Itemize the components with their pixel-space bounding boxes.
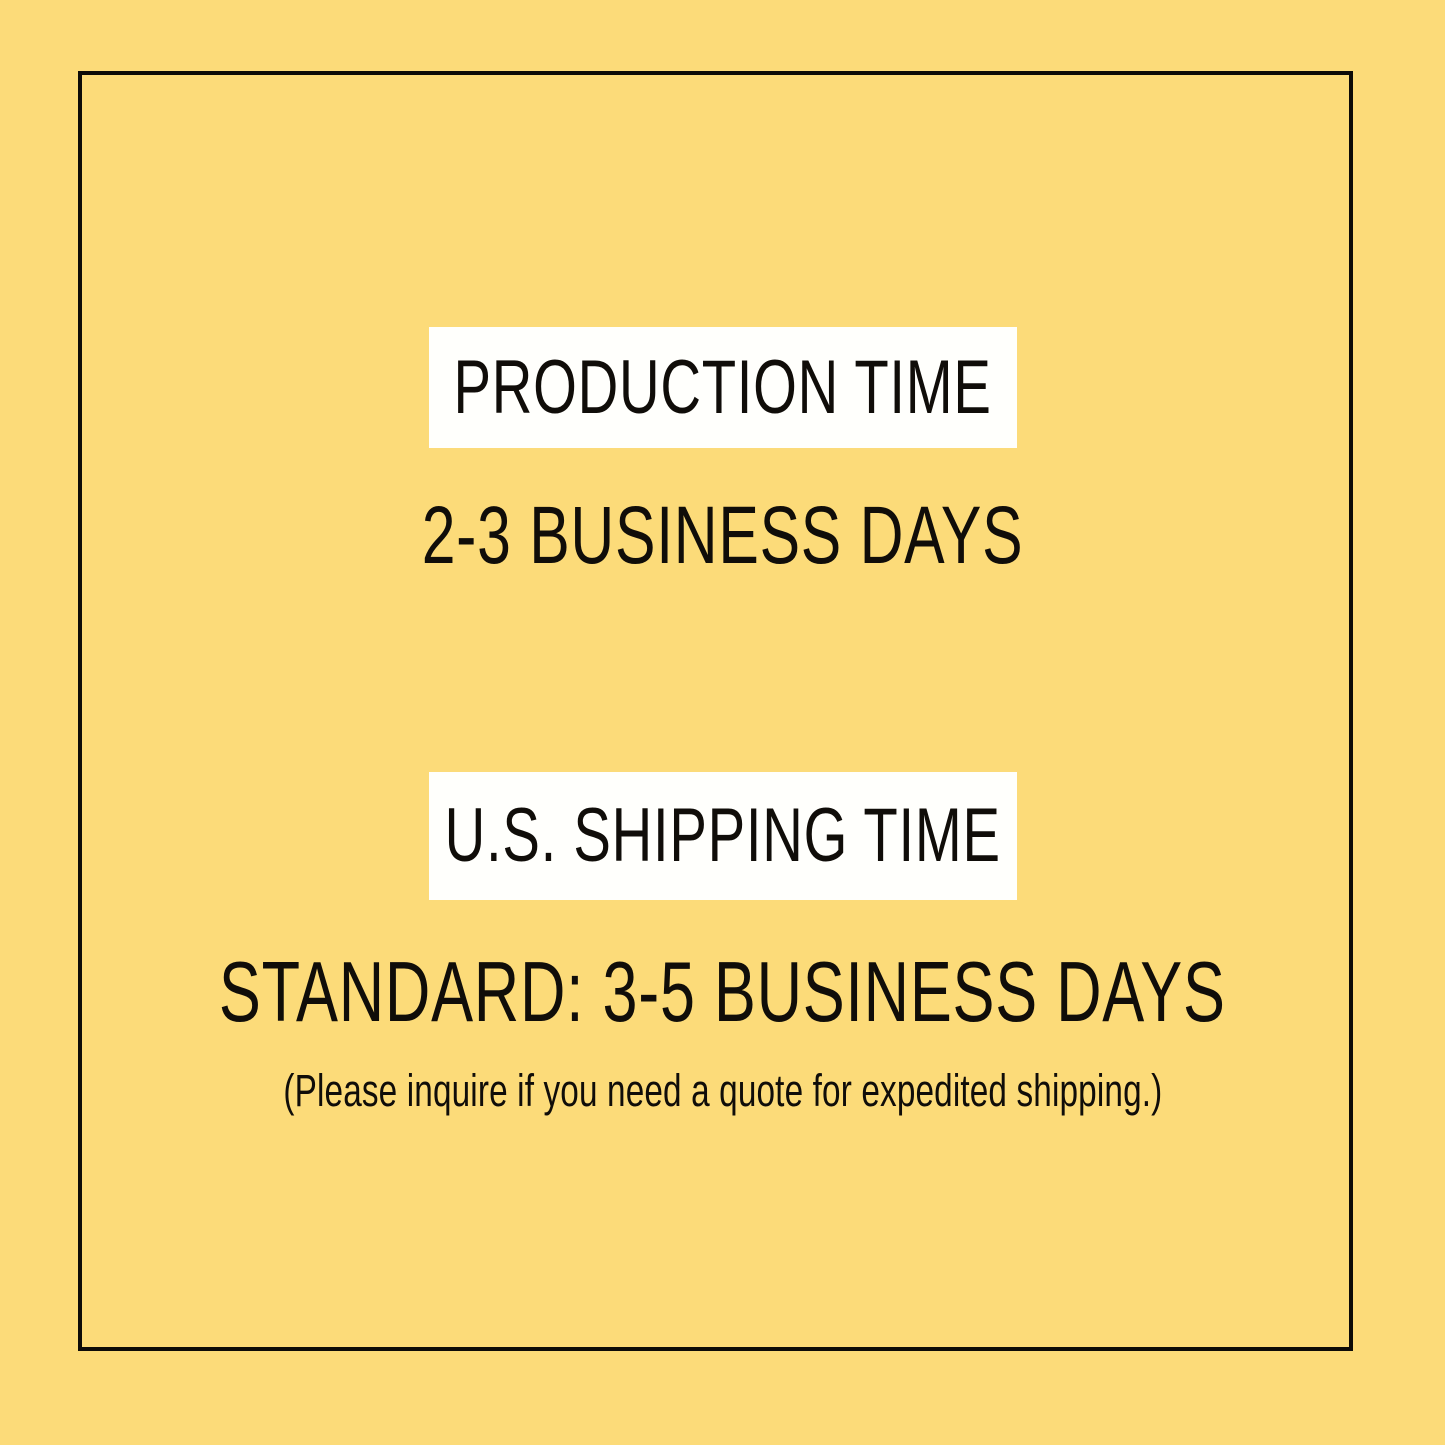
- production-time-value-label: 2-3 BUSINESS DAYS: [422, 495, 1024, 577]
- shipping-time-value-row: STANDARD: 3-5 BUSINESS DAYS: [0, 950, 1445, 1035]
- notice-canvas: PRODUCTION TIME 2-3 BUSINESS DAYS U.S. S…: [0, 0, 1445, 1445]
- production-time-heading-banner: PRODUCTION TIME: [429, 327, 1017, 448]
- production-time-heading-label: PRODUCTION TIME: [454, 350, 992, 426]
- shipping-time-heading-banner: U.S. SHIPPING TIME: [429, 772, 1017, 900]
- shipping-time-heading-label: U.S. SHIPPING TIME: [445, 798, 1001, 874]
- decorative-border-frame: [78, 71, 1353, 1351]
- production-time-value-row: 2-3 BUSINESS DAYS: [0, 495, 1445, 577]
- shipping-time-value-label: STANDARD: 3-5 BUSINESS DAYS: [219, 950, 1226, 1035]
- shipping-time-note-row: (Please inquire if you need a quote for …: [0, 1068, 1445, 1113]
- shipping-time-note-label: (Please inquire if you need a quote for …: [283, 1068, 1162, 1113]
